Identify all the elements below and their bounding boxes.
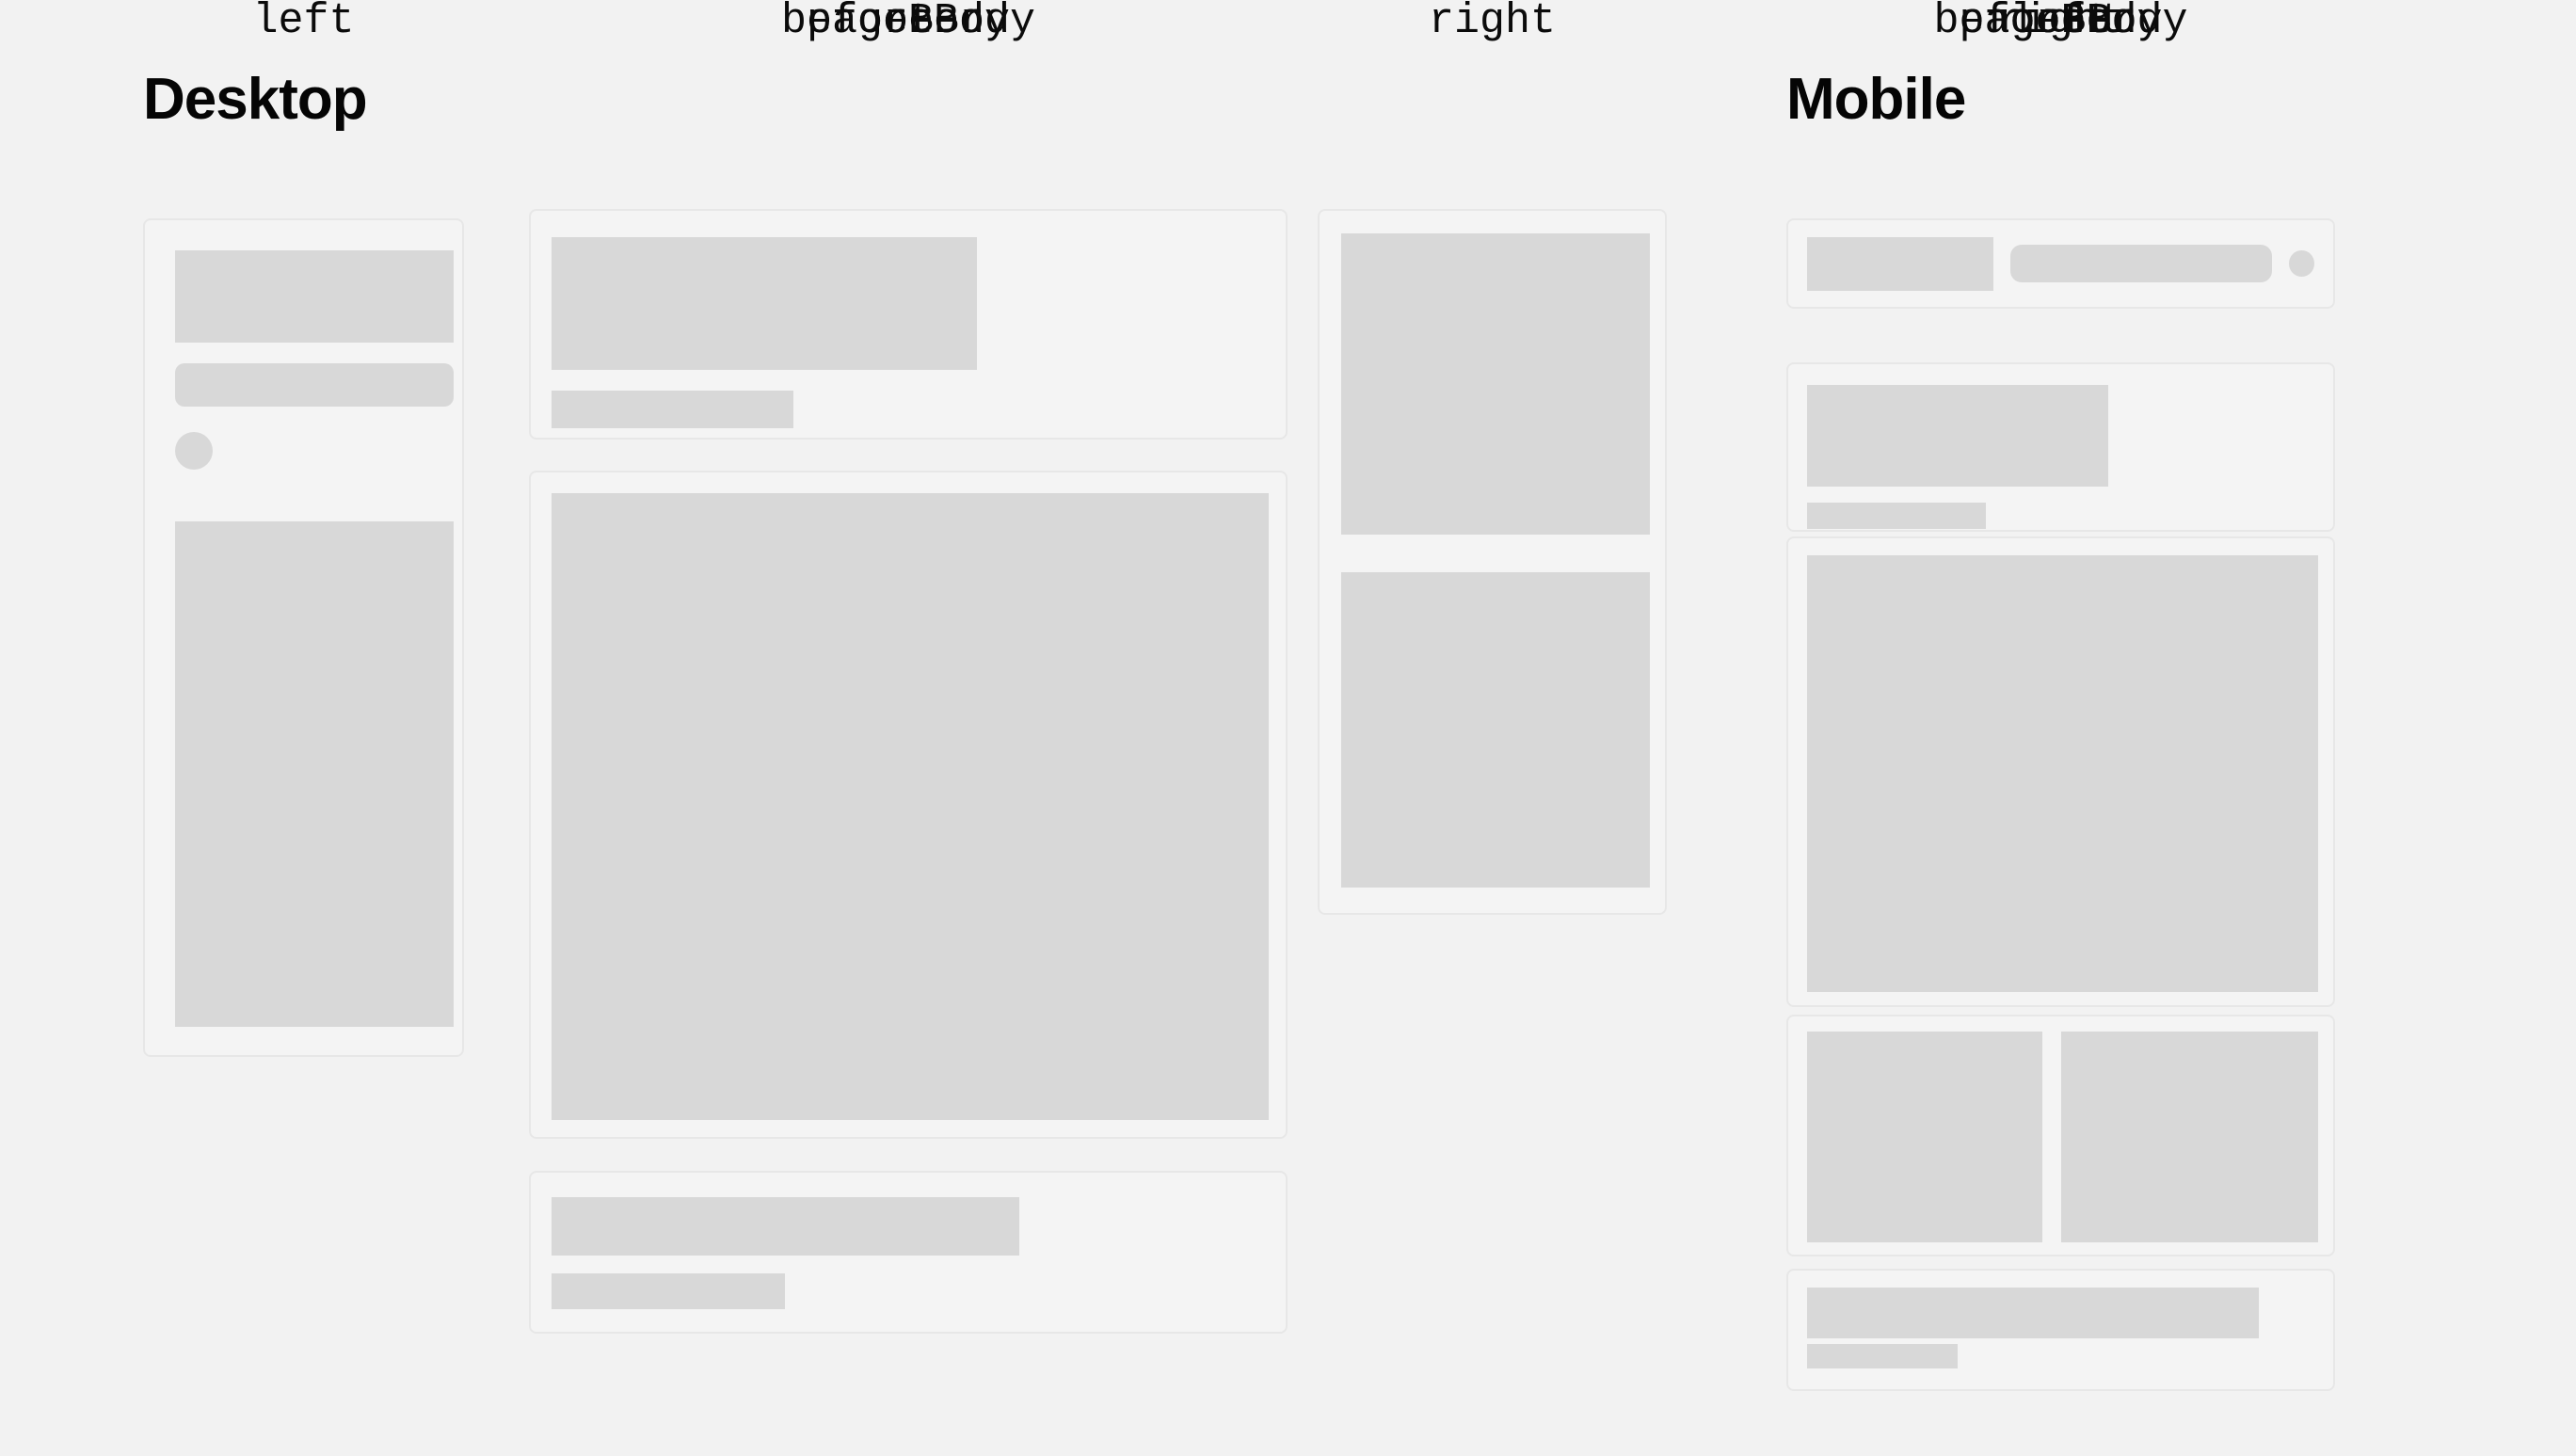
desktop-right-slot-panel[interactable] [1318, 209, 1667, 915]
mobile-left-row [1807, 220, 2314, 307]
mobile-right-slot-panel[interactable] [1786, 1015, 2335, 1256]
mobile-beforebody-slot-label: beforeBody [1786, 0, 2335, 42]
placeholder-block [1807, 1032, 2042, 1242]
mobile-section-title: Mobile [1786, 71, 1965, 129]
placeholder-block [1807, 1344, 1958, 1368]
placeholder-pill [175, 363, 454, 407]
mobile-footer-slot-panel[interactable] [1786, 1269, 2335, 1391]
desktop-pagebody-slot-panel[interactable] [529, 471, 1288, 1139]
placeholder-block [1807, 503, 1986, 529]
desktop-footer-slot-panel[interactable] [529, 1171, 1288, 1334]
placeholder-block [175, 250, 454, 343]
mobile-right-slot-label: right [1786, 0, 2335, 42]
placeholder-block [552, 237, 977, 370]
mobile-left-slot-panel[interactable] [1786, 218, 2335, 309]
placeholder-pill [2010, 245, 2271, 282]
placeholder-block [552, 1197, 1019, 1256]
placeholder-block [1807, 1288, 2259, 1338]
desktop-beforebody-slot-panel[interactable] [529, 209, 1288, 440]
placeholder-block [1807, 385, 2108, 487]
placeholder-circle-icon [2289, 250, 2314, 277]
desktop-section-title: Desktop [143, 71, 367, 129]
desktop-footer-slot-label: footer [529, 0, 1288, 42]
desktop-pagebody-slot-label: pageBody [529, 0, 1288, 42]
placeholder-block [1341, 233, 1650, 535]
placeholder-block [2061, 1032, 2318, 1242]
placeholder-circle-icon [175, 432, 213, 470]
mobile-pagebody-slot-label: pageBody [1786, 0, 2335, 42]
placeholder-block [552, 493, 1269, 1120]
placeholder-block [552, 391, 793, 428]
placeholder-block [552, 1273, 785, 1309]
desktop-left-slot-panel[interactable] [143, 218, 464, 1057]
desktop-beforebody-slot-label: beforeBody [529, 0, 1288, 42]
desktop-right-slot-label: right [1318, 0, 1667, 42]
placeholder-block [1807, 237, 1993, 291]
mobile-beforebody-slot-panel[interactable] [1786, 362, 2335, 532]
mobile-left-slot-label: left [1786, 0, 2335, 42]
mobile-footer-slot-label: footer [1786, 0, 2335, 42]
placeholder-block [175, 521, 454, 1027]
placeholder-block [1807, 555, 2318, 992]
placeholder-block [1341, 572, 1650, 888]
mobile-pagebody-slot-panel[interactable] [1786, 536, 2335, 1007]
desktop-left-slot-label: left [143, 0, 464, 42]
